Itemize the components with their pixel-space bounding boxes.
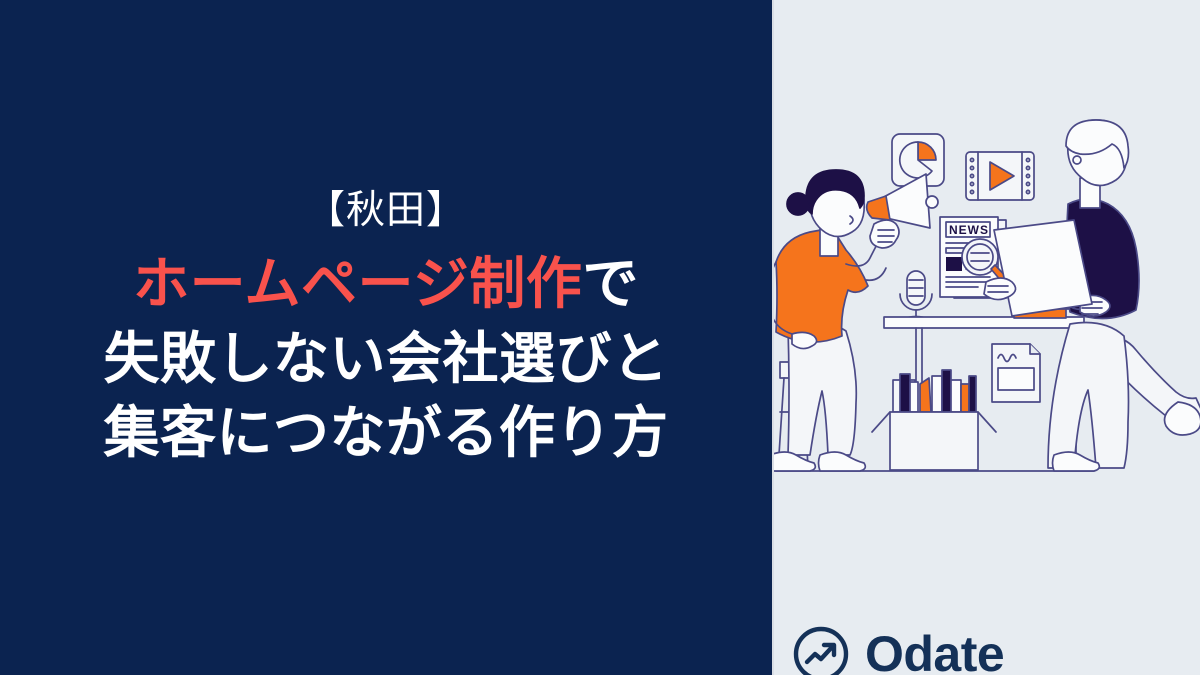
trending-up-circle-icon	[792, 625, 850, 675]
headline-line-1: ホームページ制作で	[104, 247, 669, 321]
headline-line-1-suffix: で	[582, 252, 639, 315]
brand-name: Odate	[865, 629, 1004, 675]
marketing-team-illustration: NEWS	[774, 112, 1200, 490]
headline-accent-text: ホームページ制作	[133, 252, 582, 315]
document-icon	[992, 344, 1040, 402]
eyecatch-banner: 【秋田】 ホームページ制作で 失敗しない会社選びと 集客につながる作り方	[0, 0, 1200, 675]
page-title: ホームページ制作で 失敗しない会社選びと 集客につながる作り方	[104, 247, 669, 470]
brand-logo[interactable]: Odate	[792, 625, 1004, 675]
illustration-panel: NEWS	[774, 0, 1200, 675]
book-box	[872, 370, 996, 470]
video-player-icon	[966, 152, 1034, 200]
newspaper-label: NEWS	[949, 223, 989, 237]
headline-panel: 【秋田】 ホームページ制作で 失敗しない会社選びと 集客につながる作り方	[0, 0, 772, 675]
headline-line-2: 失敗しない会社選びと	[104, 322, 669, 396]
microphone-icon	[900, 271, 932, 322]
prefecture-tag: 【秋田】	[306, 190, 466, 233]
headline-line-3: 集客につながる作り方	[104, 396, 669, 470]
